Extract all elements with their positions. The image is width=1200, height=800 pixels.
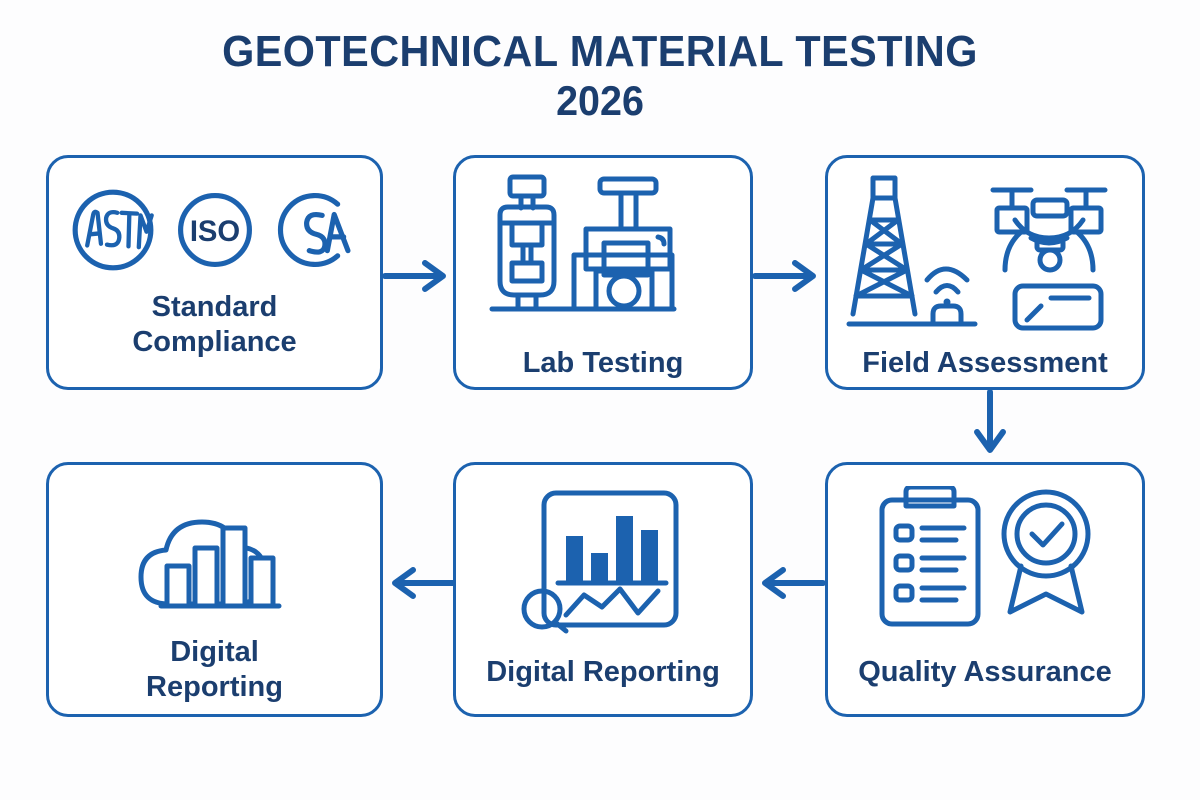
chart-bar-2 <box>591 553 608 583</box>
tablet-device-icon <box>1015 286 1101 328</box>
lab-testing-icon-group <box>456 168 750 338</box>
compression-machine-icon <box>574 179 672 309</box>
drone-icon <box>993 190 1105 270</box>
award-ribbon-check-icon <box>1004 492 1088 612</box>
chart-bar-3 <box>616 516 633 583</box>
page-title: GEOTECHNICAL MATERIAL TESTING <box>36 28 1164 76</box>
arrow-down-icon <box>963 390 1017 462</box>
chart-bar-4 <box>641 530 658 583</box>
cloud-bar-chart-icon <box>141 522 279 606</box>
arrow-right-icon <box>383 258 455 294</box>
page-title-year: 2026 <box>36 76 1164 126</box>
step-card-digital-reporting-chart[interactable]: Digital Reporting <box>453 462 753 717</box>
arrow-left-icon <box>753 565 825 601</box>
step-card-lab-testing[interactable]: Lab Testing <box>453 155 753 390</box>
cloud-bar-1 <box>167 566 189 606</box>
arrow-quality-to-digital <box>753 565 825 606</box>
step-card-digital-reporting-cloud[interactable]: Digital Reporting <box>46 462 383 717</box>
step-label-digital-reporting-chart: Digital Reporting <box>456 655 750 690</box>
arrow-right-icon <box>753 258 825 294</box>
step-card-standard-compliance[interactable]: ISO Standard Compliance <box>46 155 383 390</box>
arrow-lab-to-field <box>753 258 825 299</box>
title-block: GEOTECHNICAL MATERIAL TESTING 2026 <box>0 28 1200 125</box>
step-label-field-assessment: Field Assessment <box>828 346 1142 381</box>
csa-badge-icon <box>274 187 360 273</box>
step-card-field-assessment[interactable]: Field Assessment <box>825 155 1145 390</box>
step-label-standard-compliance: Standard Compliance <box>49 290 380 361</box>
infographic-canvas: GEOTECHNICAL MATERIAL TESTING 2026 <box>0 0 1200 800</box>
cloud-bar-4 <box>251 558 273 606</box>
step-label-quality-assurance: Quality Assurance <box>828 655 1142 690</box>
cloud-bar-2 <box>195 548 217 606</box>
clipboard-checklist-icon <box>882 487 978 624</box>
chart-bars <box>566 516 658 583</box>
chart-trend-line <box>566 589 658 615</box>
step-label-digital-reporting-cloud: Digital Reporting <box>49 635 380 706</box>
iso-badge-icon: ISO <box>172 187 258 273</box>
drill-rig-icon <box>853 178 915 314</box>
cloud-chart-bars <box>167 528 273 606</box>
field-assessment-icon-group <box>828 166 1142 341</box>
step-label-lab-testing: Lab Testing <box>456 346 750 381</box>
step-card-quality-assurance[interactable]: Quality Assurance <box>825 462 1145 717</box>
digital-reporting-chart-icon-group <box>456 483 750 643</box>
chart-panel-icon <box>544 493 676 625</box>
cloud-bar-3 <box>223 528 245 606</box>
astm-badge-icon <box>70 187 156 273</box>
arrow-digital-to-cloud <box>383 565 455 606</box>
arrow-field-to-quality <box>963 390 1017 467</box>
digital-reporting-cloud-icon-group <box>49 487 380 627</box>
arrow-left-icon <box>383 565 455 601</box>
wifi-sensor-icon <box>927 269 967 324</box>
iso-badge-text: ISO <box>189 216 239 248</box>
triaxial-cell-icon <box>500 177 554 309</box>
chart-bar-1 <box>566 536 583 583</box>
quality-assurance-icon-group <box>828 483 1142 643</box>
standard-compliance-icon-group: ISO <box>49 180 380 280</box>
arrow-standard-to-lab <box>383 258 455 299</box>
